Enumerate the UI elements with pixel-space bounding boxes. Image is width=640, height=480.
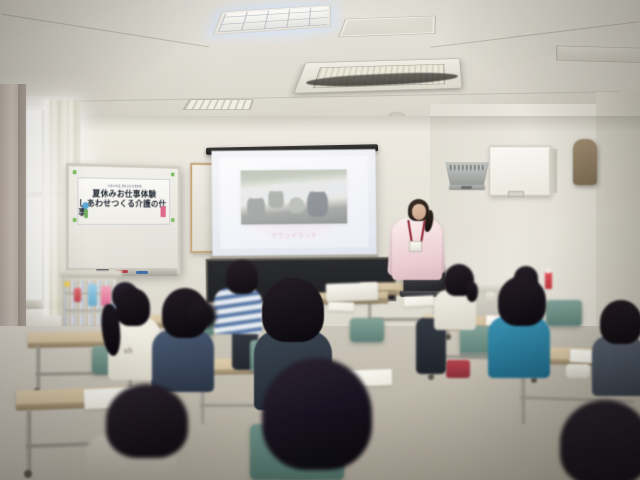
white-equipment-box <box>326 282 379 302</box>
slide-photo-person <box>289 197 304 214</box>
projection-screen: グランドランチ <box>211 149 376 259</box>
student-ponytail <box>466 282 478 302</box>
presenter-face <box>412 204 426 220</box>
student-shirt <box>152 330 214 392</box>
projected-slide: グランドランチ <box>220 156 369 249</box>
wall-cabinet[interactable] <box>489 146 551 196</box>
bottle-cap <box>546 269 551 273</box>
blue-bottle[interactable] <box>88 284 97 306</box>
red-handbag[interactable] <box>446 360 470 378</box>
wall-clock <box>573 139 597 185</box>
cup[interactable] <box>486 292 495 304</box>
red-bottle[interactable] <box>545 272 552 289</box>
student-hair <box>600 300 640 344</box>
classroom-photo: 平成23年度 夏休みお仕事体験 夏休みお仕事体験 しあわせつくる介護の仕事 <box>0 0 640 480</box>
range-hood-vent-slots <box>450 165 484 170</box>
student-hair <box>116 288 150 326</box>
table-caster <box>24 470 32 478</box>
student-hair <box>226 260 258 294</box>
slide-photo-sunhat <box>307 184 331 192</box>
classroom-chair[interactable] <box>546 300 582 326</box>
slide-photo-sunhat <box>267 185 285 191</box>
slide-photo-person <box>268 188 284 208</box>
table-leg <box>26 410 31 472</box>
presenter-id-badge <box>409 241 422 252</box>
wall-ceiling-shadow <box>0 116 640 132</box>
paper-handout[interactable] <box>404 295 434 307</box>
shirt-text: ub <box>124 346 133 355</box>
table-leg <box>36 346 40 390</box>
event-banner: 平成23年度 夏休みお仕事体験 夏休みお仕事体験 しあわせつくる介護の仕事 <box>77 177 170 225</box>
slide-caption: グランドランチ <box>220 230 368 241</box>
whiteboard-marker[interactable] <box>136 271 148 274</box>
student-hair <box>262 358 372 470</box>
slide-photograph <box>240 169 347 225</box>
yellow-ball <box>64 281 70 287</box>
slide-photo-person <box>307 189 329 217</box>
slide-photo-sunhat <box>246 191 266 198</box>
table-caster <box>428 374 434 380</box>
bookshelf-top <box>60 270 122 277</box>
student-hair <box>498 276 546 326</box>
banner-figure-icon <box>161 206 166 217</box>
tissue-box[interactable] <box>566 364 590 378</box>
whiteboard: 平成23年度 夏休みお仕事体験 夏休みお仕事体験 しあわせつくる介護の仕事 <box>66 163 180 277</box>
student-hair <box>186 300 216 328</box>
student-striped-shirt-body <box>214 288 262 334</box>
wall-cabinet-side <box>549 149 557 193</box>
student-shirt <box>592 336 640 396</box>
range-hood-light[interactable] <box>461 186 472 189</box>
banner-stem-icon <box>84 209 88 218</box>
banner-line-2: しあわせつくる介護の仕事 <box>78 199 169 217</box>
student-hair <box>262 278 324 342</box>
cabinet-handle[interactable] <box>508 191 524 197</box>
paper-handout[interactable] <box>328 302 354 312</box>
student-hair <box>560 400 640 480</box>
banner-flower-icon <box>82 202 89 209</box>
red-cup[interactable] <box>74 288 81 302</box>
banner-line-1: 夏休みお仕事体験 <box>92 189 156 198</box>
student-hair <box>106 384 188 458</box>
classroom-chair[interactable] <box>350 318 384 342</box>
